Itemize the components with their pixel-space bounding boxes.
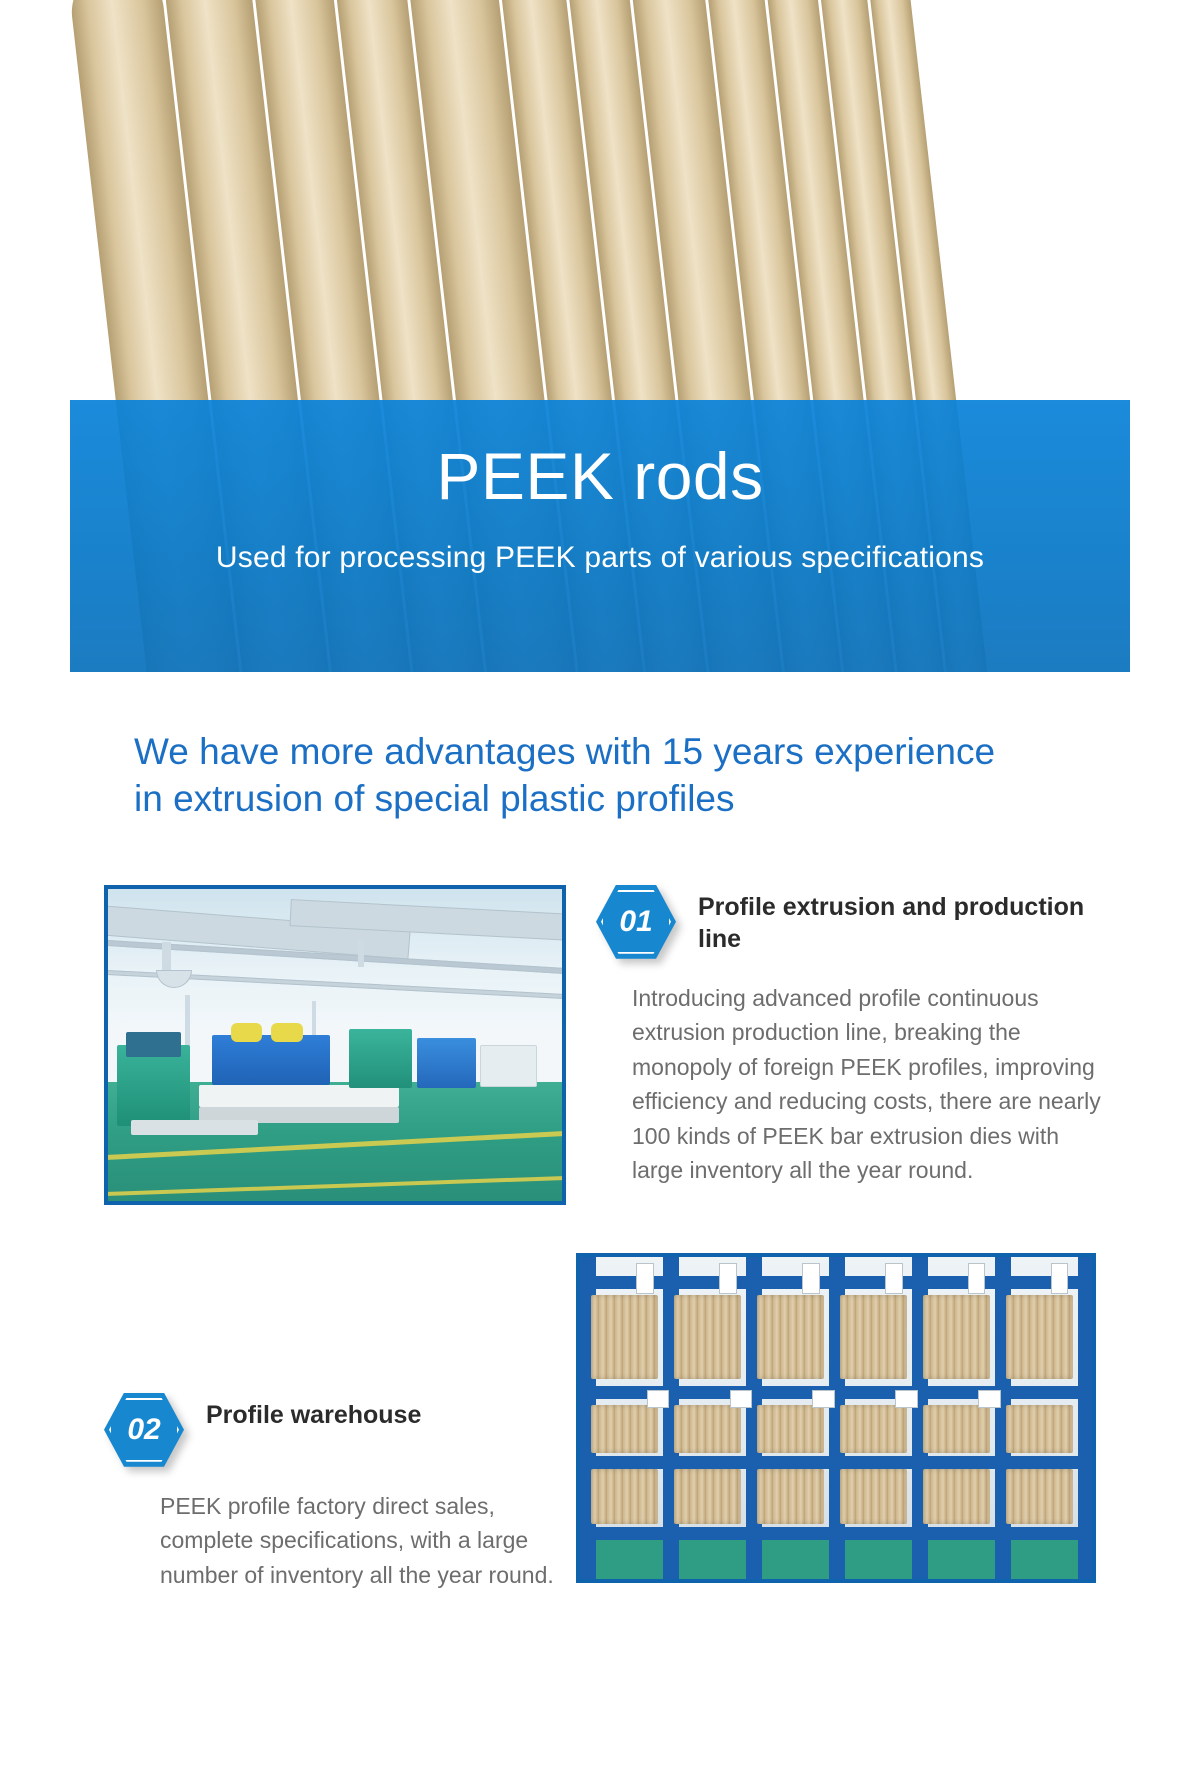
rod-bundle bbox=[674, 1405, 741, 1453]
product-detail-page: PEEK rods Used for processing PEEK parts… bbox=[0, 0, 1200, 1787]
shelf-label-tag bbox=[802, 1263, 819, 1294]
rod-bundle bbox=[591, 1295, 658, 1379]
shelf-label-tag bbox=[636, 1263, 653, 1294]
section-heading-line-1: We have more advantages with 15 years ex… bbox=[134, 728, 1100, 775]
extrusion-workshop-image bbox=[108, 889, 562, 1201]
feature-02-title: Profile warehouse bbox=[206, 1393, 421, 1431]
shelf-label-tag bbox=[719, 1263, 736, 1294]
page-subtitle: Used for processing PEEK parts of variou… bbox=[216, 513, 984, 575]
rod-bundle bbox=[923, 1295, 990, 1379]
feature-01-photo bbox=[104, 885, 566, 1205]
hexagon-badge-02: 02 bbox=[104, 1393, 184, 1467]
rod-bundle bbox=[1006, 1295, 1073, 1379]
hexagon-badge-01: 01 bbox=[596, 885, 676, 959]
rod-bundle bbox=[1006, 1469, 1073, 1524]
rod-bundle bbox=[840, 1469, 907, 1524]
shelf-label-tag bbox=[885, 1263, 902, 1294]
rod-bundle bbox=[757, 1469, 824, 1524]
shelf-label-tag bbox=[1051, 1263, 1068, 1294]
rod-bundle bbox=[757, 1405, 824, 1453]
hero-text-block: PEEK rods Used for processing PEEK parts… bbox=[70, 400, 1130, 672]
section-heading: We have more advantages with 15 years ex… bbox=[100, 728, 1100, 823]
page-title: PEEK rods bbox=[436, 440, 763, 513]
feature-01-body: Introducing advanced profile continuous … bbox=[596, 959, 1102, 1188]
shelf-label-tag bbox=[647, 1390, 669, 1408]
feature-01-title: Profile extrusion and production line bbox=[698, 885, 1110, 955]
feature-block-02: 02 Profile warehouse PEEK profile factor… bbox=[70, 1253, 1130, 1593]
rod-bundle bbox=[757, 1295, 824, 1379]
feature-02-header: 02 Profile warehouse bbox=[104, 1393, 570, 1467]
rod-bundle bbox=[840, 1295, 907, 1379]
section-heading-line-2: in extrusion of special plastic profiles bbox=[134, 775, 1100, 822]
rod-bundle bbox=[840, 1405, 907, 1453]
rod-bundle bbox=[923, 1405, 990, 1453]
hero-banner-section: PEEK rods Used for processing PEEK parts… bbox=[70, 0, 1130, 672]
feature-01-header: 01 Profile extrusion and production line bbox=[596, 885, 1110, 959]
shelf-label-tag bbox=[895, 1390, 917, 1408]
feature-02-body: PEEK profile factory direct sales, compl… bbox=[104, 1467, 570, 1593]
feature-02-photo bbox=[576, 1253, 1096, 1583]
rod-bundle bbox=[591, 1405, 658, 1453]
rod-bundle bbox=[923, 1469, 990, 1524]
shelf-label-tag bbox=[968, 1263, 985, 1294]
rod-bundle bbox=[591, 1469, 658, 1524]
shelf-label-tag bbox=[730, 1390, 752, 1408]
shelf-label-tag bbox=[978, 1390, 1000, 1408]
feature-02-text: 02 Profile warehouse PEEK profile factor… bbox=[70, 1253, 570, 1593]
rod-bundle bbox=[1006, 1405, 1073, 1453]
warehouse-rack-image bbox=[580, 1257, 1092, 1579]
feature-block-01: 01 Profile extrusion and production line… bbox=[70, 885, 1130, 1205]
shelf-label-tag bbox=[812, 1390, 834, 1408]
rod-bundle bbox=[674, 1469, 741, 1524]
feature-01-text: 01 Profile extrusion and production line… bbox=[566, 885, 1130, 1188]
rod-bundle bbox=[674, 1295, 741, 1379]
